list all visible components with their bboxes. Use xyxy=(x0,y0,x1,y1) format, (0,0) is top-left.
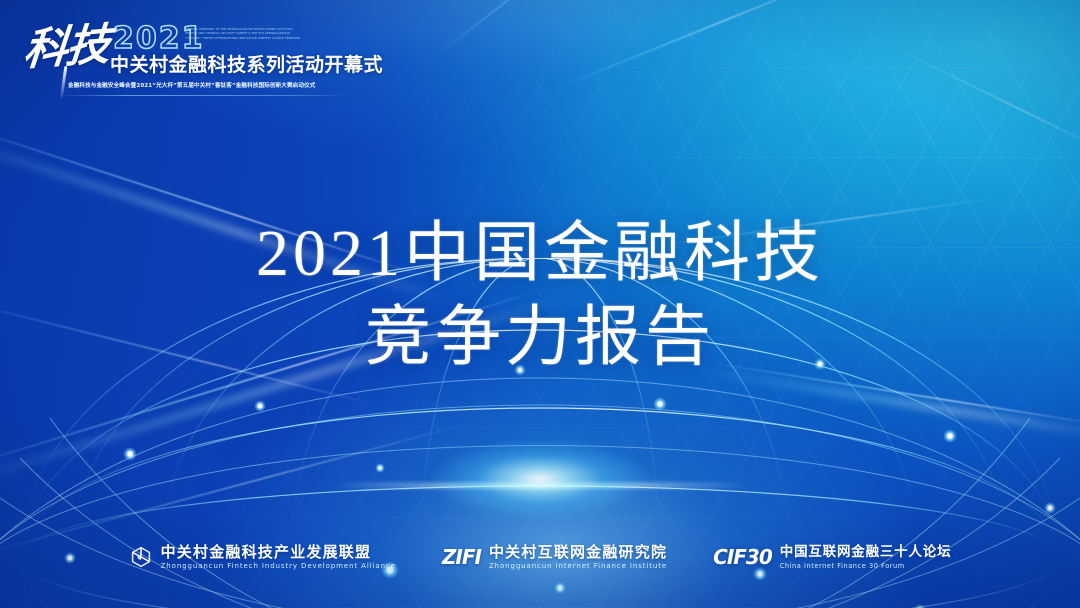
logo-name-cn: 中关村金融科技产业发展联盟 xyxy=(161,544,396,560)
logo-china-internet-finance-30-forum: CIF30 中国互联网金融三十人论坛 China Internet Financ… xyxy=(713,544,951,570)
logo-name-cn: 中关村互联网金融研究院 xyxy=(489,544,667,560)
cube-icon xyxy=(129,545,153,569)
logo-name-en: Zhongguancun Internet Finance Institute xyxy=(489,562,667,570)
cif30-wordmark: CIF30 xyxy=(713,547,772,567)
zifi-wordmark: ZIFI xyxy=(442,547,481,567)
event-english-line: “FANTAIKE” FINTECH INTERNATIONAL INNOVAT… xyxy=(185,37,340,41)
main-title: 2021中国金融科技 竞争力报告 xyxy=(0,212,1080,380)
event-subtitle: 金融科技与金融安全峰会暨2021“光大杯”第五届中关村“番钛客”金融科技国际创新… xyxy=(68,84,315,90)
logo-text-block: 中国互联网金融三十人论坛 China Internet Finance 30 F… xyxy=(780,544,952,570)
logo-name-en: Zhongguancun Fintech Industry Developmen… xyxy=(161,562,396,570)
logo-zhongguancun-internet-finance-institute: ZIFI 中关村互联网金融研究院 Zhongguancun Internet F… xyxy=(442,544,667,570)
logo-name-cn: 中国互联网金融三十人论坛 xyxy=(780,544,952,560)
event-english-subtext: OPENING CEREMONY OF THE ZHONGGUANCUN FIN… xyxy=(185,28,340,41)
main-title-line-1: 2021中国金融科技 xyxy=(0,212,1080,296)
logo-zhongguancun-fintech-alliance: 中关村金融科技产业发展联盟 Zhongguancun Fintech Indus… xyxy=(129,544,396,570)
event-header-banner: 科技 2021 OPENING CEREMONY OF THE ZHONGGUA… xyxy=(0,0,348,108)
event-header-underline xyxy=(58,95,348,96)
logo-text-block: 中关村金融科技产业发展联盟 Zhongguancun Fintech Indus… xyxy=(161,544,396,570)
logo-text-block: 中关村互联网金融研究院 Zhongguancun Internet Financ… xyxy=(489,544,667,570)
organizer-logo-bar: 中关村金融科技产业发展联盟 Zhongguancun Fintech Indus… xyxy=(0,544,1080,570)
event-title: 中关村金融科技系列活动开幕式 xyxy=(110,56,383,75)
poster-canvas: 科技 2021 OPENING CEREMONY OF THE ZHONGGUA… xyxy=(0,0,1080,608)
logo-name-en: China Internet Finance 30 Forum xyxy=(780,562,952,570)
main-title-line-2: 竞争力报告 xyxy=(0,296,1080,380)
